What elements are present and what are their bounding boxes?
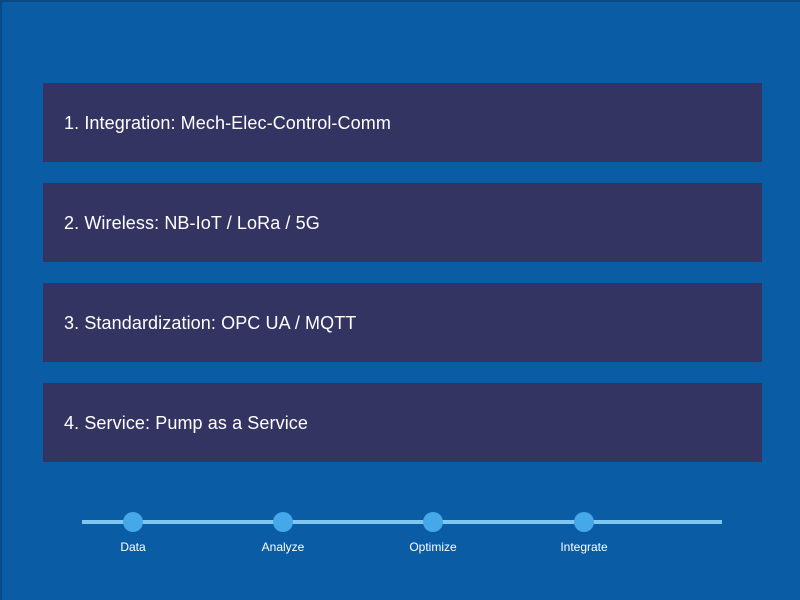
card-label: 2. Wireless: NB-IoT / LoRa / 5G (64, 212, 320, 234)
timeline-dot-icon (123, 512, 143, 532)
timeline-step-label: Integrate (524, 540, 644, 555)
timeline-dot-icon (574, 512, 594, 532)
timeline-step-3[interactable]: Optimize (373, 502, 493, 555)
timeline-step-4[interactable]: Integrate (524, 502, 644, 555)
card-label: 1. Integration: Mech-Elec-Control-Comm (64, 112, 391, 134)
timeline-dot-icon (423, 512, 443, 532)
card-label: 4. Service: Pump as a Service (64, 412, 308, 434)
timeline-step-label: Analyze (223, 540, 343, 555)
timeline-step-label: Data (73, 540, 193, 555)
list-item[interactable]: 2. Wireless: NB-IoT / LoRa / 5G (43, 183, 762, 262)
timeline-step-1[interactable]: Data (73, 502, 193, 555)
slide-canvas: 1. Integration: Mech-Elec-Control-Comm 2… (0, 0, 800, 600)
card-list: 1. Integration: Mech-Elec-Control-Comm 2… (43, 83, 762, 483)
progress-timeline: Data Analyze Optimize Integrate (2, 502, 800, 572)
timeline-dot-icon (273, 512, 293, 532)
card-label: 3. Standardization: OPC UA / MQTT (64, 312, 356, 334)
list-item[interactable]: 3. Standardization: OPC UA / MQTT (43, 283, 762, 362)
list-item[interactable]: 1. Integration: Mech-Elec-Control-Comm (43, 83, 762, 162)
timeline-step-2[interactable]: Analyze (223, 502, 343, 555)
list-item[interactable]: 4. Service: Pump as a Service (43, 383, 762, 462)
timeline-step-label: Optimize (373, 540, 493, 555)
